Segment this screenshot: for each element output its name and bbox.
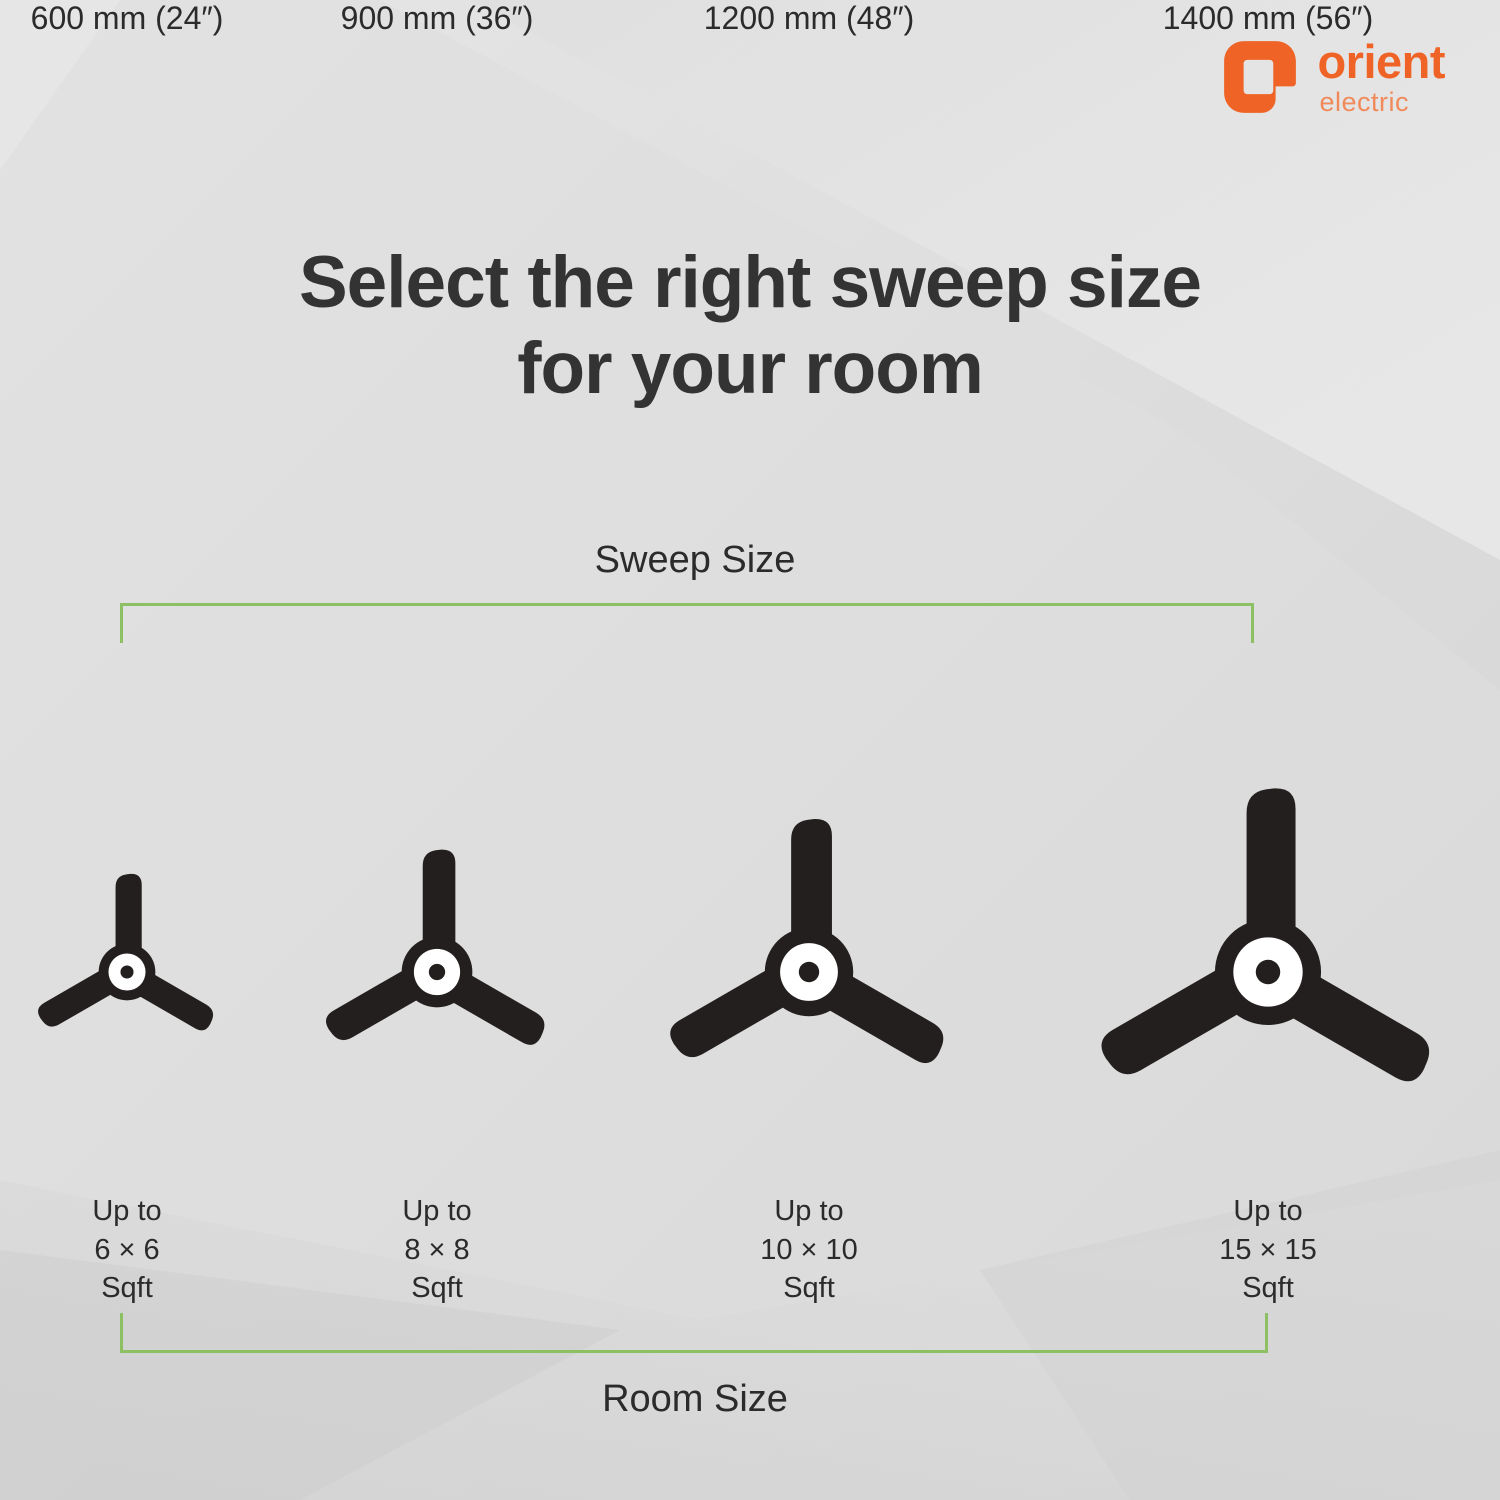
room-size-line2: 15 × 15: [1219, 1231, 1317, 1270]
room-size-line1: Up to: [760, 1192, 858, 1231]
ceiling-fan-icon: [301, 836, 573, 1108]
room-size-line3: Sqft: [760, 1269, 858, 1308]
fan-blades: [1064, 768, 1472, 1176]
sweep-label: 1400 mm (56″): [1163, 0, 1374, 37]
room-size-line1: Up to: [1219, 1192, 1317, 1231]
sweep-size-header: Sweep Size: [0, 539, 1390, 582]
brand-logo[interactable]: orient electric: [1221, 38, 1445, 116]
brand-wordmark: orient electric: [1317, 38, 1445, 116]
fan-hub-center: [429, 964, 445, 980]
orient-logo-mark: [1221, 38, 1299, 116]
page-title-line2: for your room: [0, 326, 1500, 412]
sweep-label: 1200 mm (48″): [704, 0, 915, 37]
brand-name-primary: orient: [1317, 38, 1445, 85]
fan-blades: [639, 802, 979, 1142]
room-size-label: Up to 15 × 15 Sqft: [1219, 1192, 1317, 1308]
room-size-label: Up to 8 × 8 Sqft: [402, 1192, 471, 1308]
ceiling-fan-icon: [639, 802, 979, 1142]
bracket-tick-right: [1265, 1313, 1268, 1353]
room-size-line3: Sqft: [402, 1269, 471, 1308]
brand-name-secondary: electric: [1319, 89, 1445, 116]
ceiling-fan-icon: [18, 863, 236, 1081]
sweep-label: 600 mm (24″): [31, 0, 224, 37]
sweep-label: 900 mm (36″): [341, 0, 534, 37]
bracket-line: [120, 1350, 1268, 1353]
room-size-line2: 8 × 8: [402, 1231, 471, 1270]
room-size-line2: 10 × 10: [760, 1231, 858, 1270]
room-size-line3: Sqft: [1219, 1269, 1317, 1308]
room-size-line1: Up to: [402, 1192, 471, 1231]
bracket-tick-right: [1251, 603, 1254, 643]
room-size-bracket: [120, 1313, 1268, 1353]
bracket-tick-left: [120, 603, 123, 643]
room-size-line2: 6 × 6: [92, 1231, 161, 1270]
bracket-tick-left: [120, 1313, 123, 1353]
page-title-line1: Select the right sweep size: [0, 240, 1500, 326]
fan-hub-center: [1256, 960, 1280, 984]
room-size-label: Up to 10 × 10 Sqft: [760, 1192, 858, 1308]
sweep-size-bracket: [120, 603, 1254, 643]
room-size-label: Up to 6 × 6 Sqft: [92, 1192, 161, 1308]
ceiling-fan-icon: [1064, 768, 1472, 1176]
room-size-header: Room Size: [0, 1378, 1390, 1421]
fan-blades: [301, 836, 573, 1108]
page-title: Select the right sweep size for your roo…: [0, 240, 1500, 412]
bracket-line: [120, 603, 1254, 606]
fan-blades: [18, 863, 236, 1081]
room-size-line3: Sqft: [92, 1269, 161, 1308]
room-size-line1: Up to: [92, 1192, 161, 1231]
fan-hub-center: [120, 965, 133, 978]
fan-hub-center: [799, 962, 819, 982]
